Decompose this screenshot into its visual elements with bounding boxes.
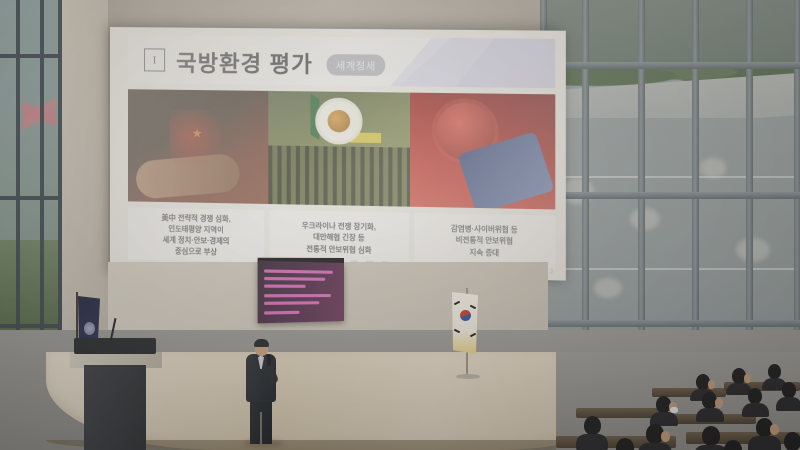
speaker-hair — [254, 339, 269, 347]
taeguk-symbol-icon — [460, 310, 471, 321]
audience-area — [556, 352, 800, 450]
column1-line3: 세계 정치·안보·경제의 — [163, 234, 230, 247]
flag-stand — [456, 374, 480, 379]
audience-head — [768, 364, 781, 379]
outdoor-lawn — [0, 240, 62, 330]
virus-cyber-photo — [410, 93, 555, 210]
column3-line3: 지속 증대 — [469, 246, 499, 258]
handshake-photo — [128, 89, 268, 204]
un-assembly-photo — [268, 91, 410, 207]
slide-title-bar: I 국방환경 평가 세계정세 — [128, 35, 555, 88]
lectern — [84, 365, 146, 450]
outdoor-sculpture — [22, 40, 56, 190]
audience-head — [584, 416, 601, 435]
audience-head — [784, 432, 800, 450]
wall-pillar — [62, 0, 108, 340]
projection-screen: I 국방환경 평가 세계정세 美中 전략적 경쟁 심화, 인도태평양 지역이 — [110, 27, 566, 281]
slide-title-text: 국방환경 평가 — [176, 46, 313, 80]
audience-head — [782, 382, 796, 398]
slide-photo-band — [128, 89, 555, 209]
un-emblem-icon — [315, 98, 362, 145]
handheld-microphone-icon — [267, 354, 271, 366]
column3-line2: 비전통적 안보위협 — [456, 235, 513, 248]
slide-number-box: I — [144, 48, 165, 71]
slide-page-mark: 3 — [550, 269, 554, 275]
column2-line3: 전통적 안보위협 심화 — [306, 243, 371, 256]
audience-head — [748, 388, 762, 404]
podium-desk — [74, 338, 156, 354]
left-window — [0, 0, 62, 330]
slide-topic-badge: 세계정세 — [327, 54, 385, 76]
lecture-hall-screenshot: I 국방환경 평가 세계정세 美中 전략적 경쟁 심화, 인도태평양 지역이 — [0, 0, 800, 450]
audience-head — [702, 426, 720, 446]
led-side-display — [258, 261, 344, 324]
